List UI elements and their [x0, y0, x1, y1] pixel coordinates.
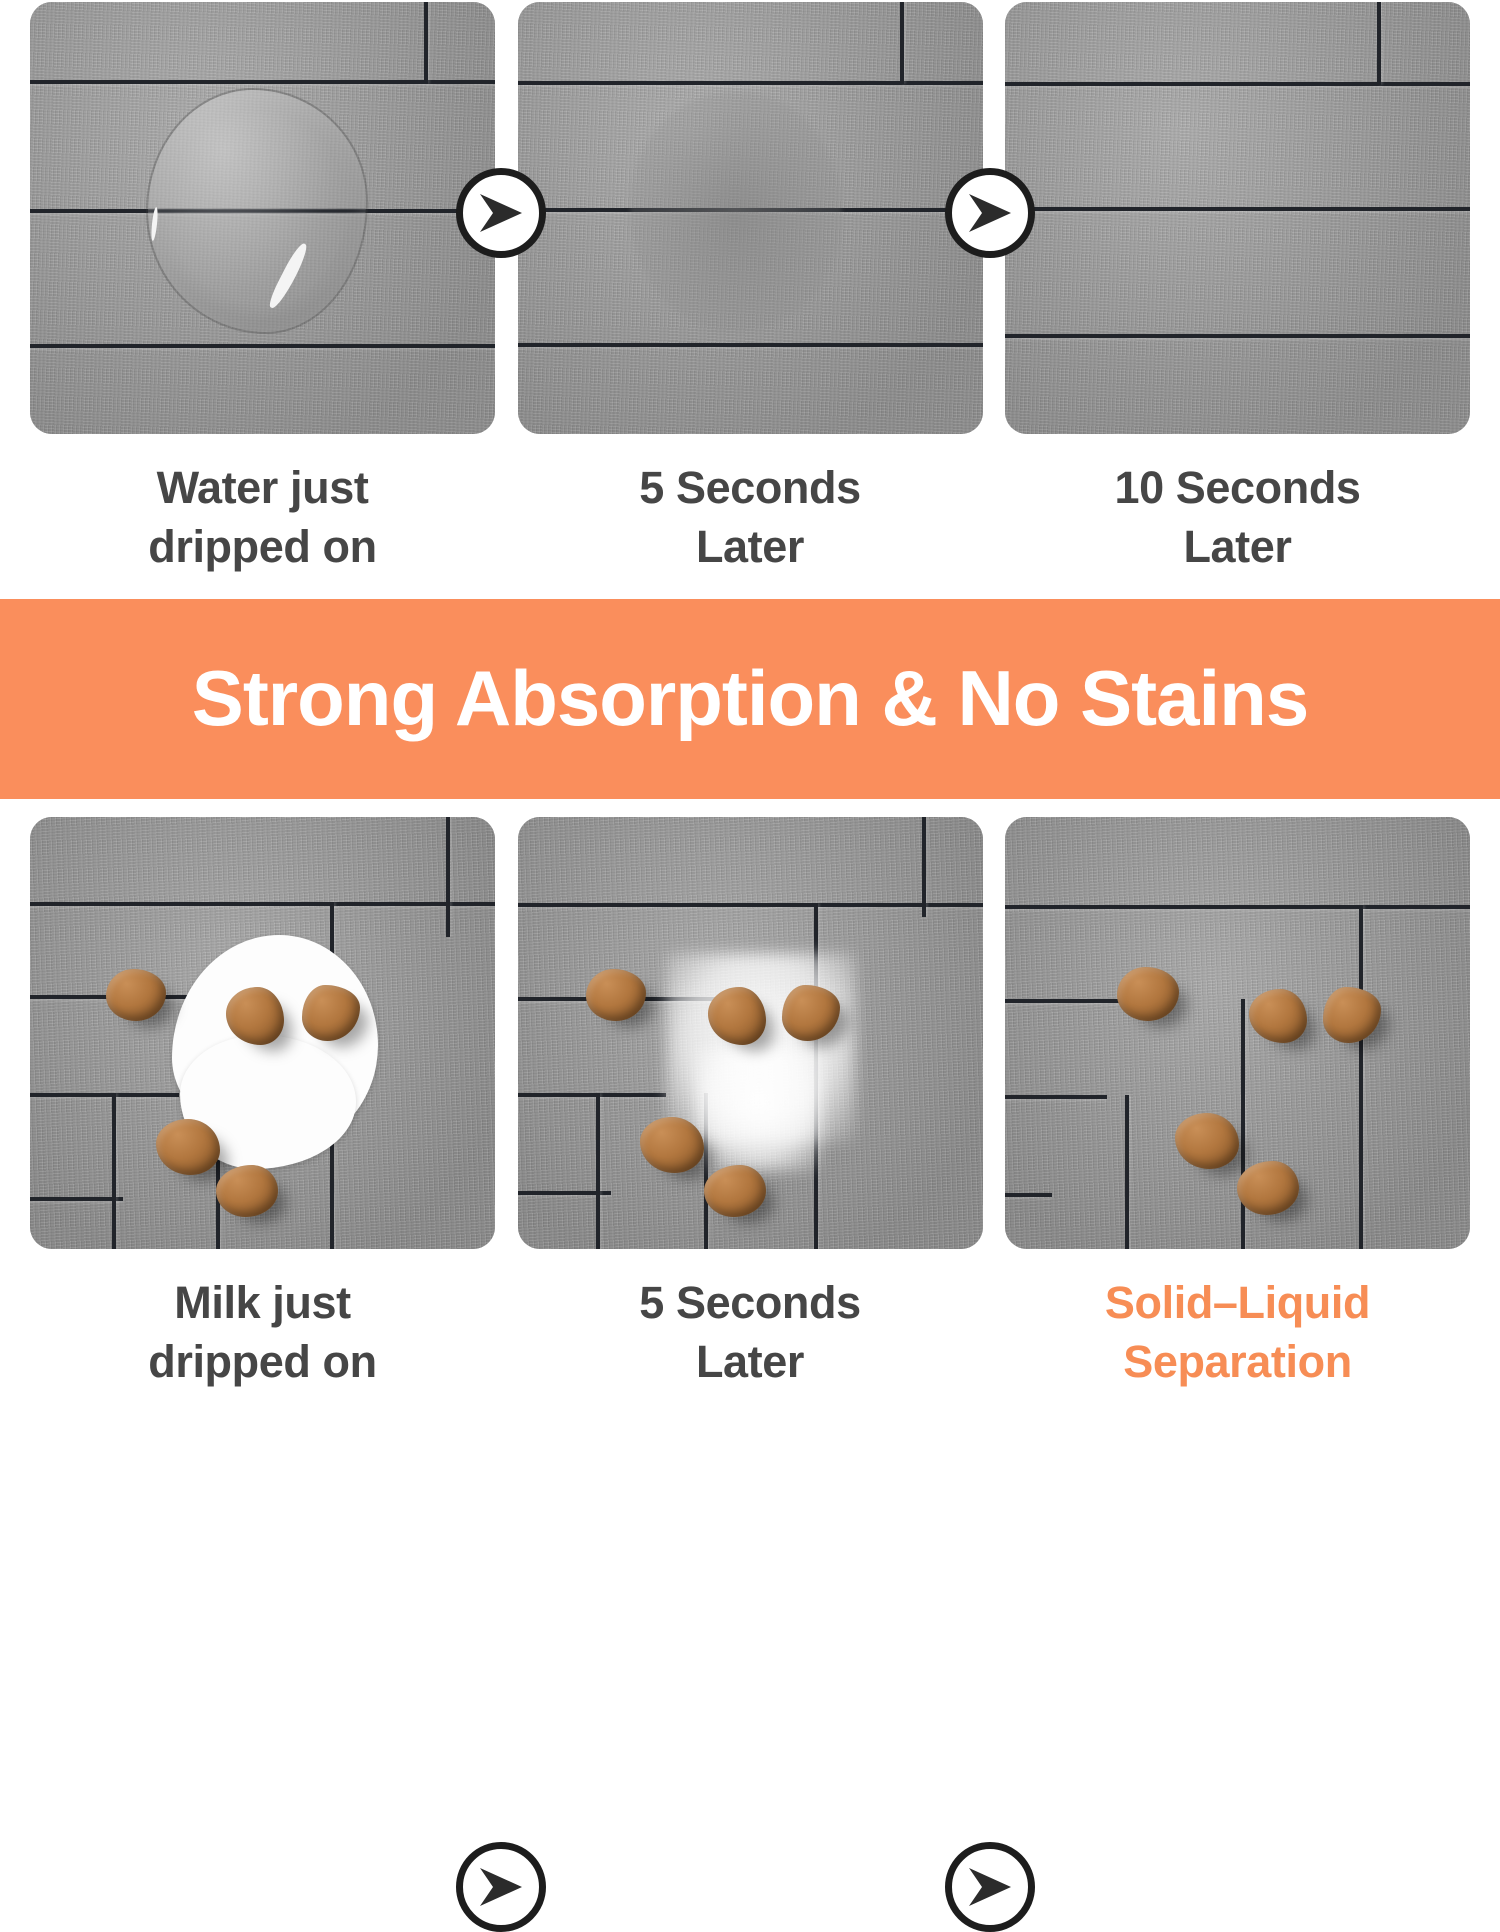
- milk-step-1-image: [30, 817, 495, 1249]
- grout-line: [518, 1093, 667, 1097]
- kibble-piece: [1237, 1161, 1299, 1215]
- grout-line: [1005, 82, 1470, 86]
- water-step-2: 5 Seconds Later: [518, 2, 983, 577]
- caption-line-1: Water just: [30, 458, 495, 517]
- grout-line: [112, 1093, 116, 1249]
- arrow-right-icon: [945, 1842, 1035, 1932]
- grout-line: [1125, 1095, 1129, 1249]
- grout-line: [596, 1093, 600, 1249]
- grout-line: [424, 2, 428, 84]
- grout-line: [446, 817, 450, 937]
- grout-line: [30, 902, 495, 906]
- kibble-piece: [704, 1165, 766, 1217]
- caption-line-2: Later: [518, 517, 983, 576]
- milk-step-3-caption: Solid–Liquid Separation: [1005, 1273, 1470, 1392]
- headline-text: Strong Absorption & No Stains: [192, 653, 1308, 744]
- caption-line-2: Separation: [1005, 1332, 1470, 1391]
- grout-line: [1005, 905, 1470, 909]
- water-step-2-image: [518, 2, 983, 434]
- grout-line: [518, 81, 983, 85]
- water-step-3-image: [1005, 2, 1470, 434]
- kibble-piece: [216, 1165, 278, 1217]
- water-droplet: [148, 90, 366, 332]
- caption-line-2: dripped on: [30, 1332, 495, 1391]
- grout-line: [900, 2, 904, 84]
- caption-line-1: Milk just: [30, 1273, 495, 1332]
- water-step-1: Water just dripped on: [30, 2, 495, 577]
- water-step-2-caption: 5 Seconds Later: [518, 458, 983, 577]
- water-step-1-image: [30, 2, 495, 434]
- caption-line-2: Later: [518, 1332, 983, 1391]
- caption-line-1: 5 Seconds: [518, 458, 983, 517]
- caption-line-2: Later: [1005, 517, 1470, 576]
- grout-line: [518, 343, 983, 347]
- grout-line: [1359, 905, 1363, 1249]
- milk-sequence-row: Milk just dripped on: [0, 799, 1500, 1392]
- water-step-1-caption: Water just dripped on: [30, 458, 495, 577]
- water-sequence-row: Water just dripped on 5 Seconds Later: [0, 0, 1500, 577]
- kibble-piece: [1117, 967, 1179, 1021]
- water-step-3: 10 Seconds Later: [1005, 2, 1470, 577]
- arrow-right-icon: [945, 168, 1035, 258]
- grout-line: [30, 344, 495, 348]
- mat-texture: [1005, 2, 1470, 434]
- water-step-3-caption: 10 Seconds Later: [1005, 458, 1470, 577]
- grout-line: [1241, 999, 1245, 1249]
- milk-step-2-image: [518, 817, 983, 1249]
- grout-line: [30, 1093, 179, 1097]
- grout-line: [518, 903, 983, 907]
- arrow-right-icon: [456, 168, 546, 258]
- grout-line: [922, 817, 926, 917]
- caption-line-1: Solid–Liquid: [1005, 1273, 1470, 1332]
- grout-line: [1005, 334, 1470, 338]
- milk-step-3-image: [1005, 817, 1470, 1249]
- milk-step-1-caption: Milk just dripped on: [30, 1273, 495, 1392]
- milk-step-1: Milk just dripped on: [30, 817, 495, 1392]
- milk-step-2: 5 Seconds Later: [518, 817, 983, 1392]
- arrow-right-icon: [456, 1842, 546, 1932]
- milk-step-2-caption: 5 Seconds Later: [518, 1273, 983, 1392]
- kibble-piece: [586, 969, 646, 1021]
- damp-patch: [630, 92, 842, 332]
- kibble-piece: [106, 969, 166, 1021]
- grout-line: [1377, 2, 1381, 85]
- grout-line: [30, 1197, 123, 1201]
- caption-line-1: 10 Seconds: [1005, 458, 1470, 517]
- caption-line-2: dripped on: [30, 517, 495, 576]
- grout-line: [1005, 1193, 1052, 1197]
- milk-absorbing: [696, 1047, 822, 1171]
- grout-line: [1005, 1095, 1107, 1099]
- milk-step-3: Solid–Liquid Separation: [1005, 817, 1470, 1392]
- grout-line: [1005, 207, 1470, 211]
- caption-line-1: 5 Seconds: [518, 1273, 983, 1332]
- headline-banner: Strong Absorption & No Stains: [0, 599, 1500, 799]
